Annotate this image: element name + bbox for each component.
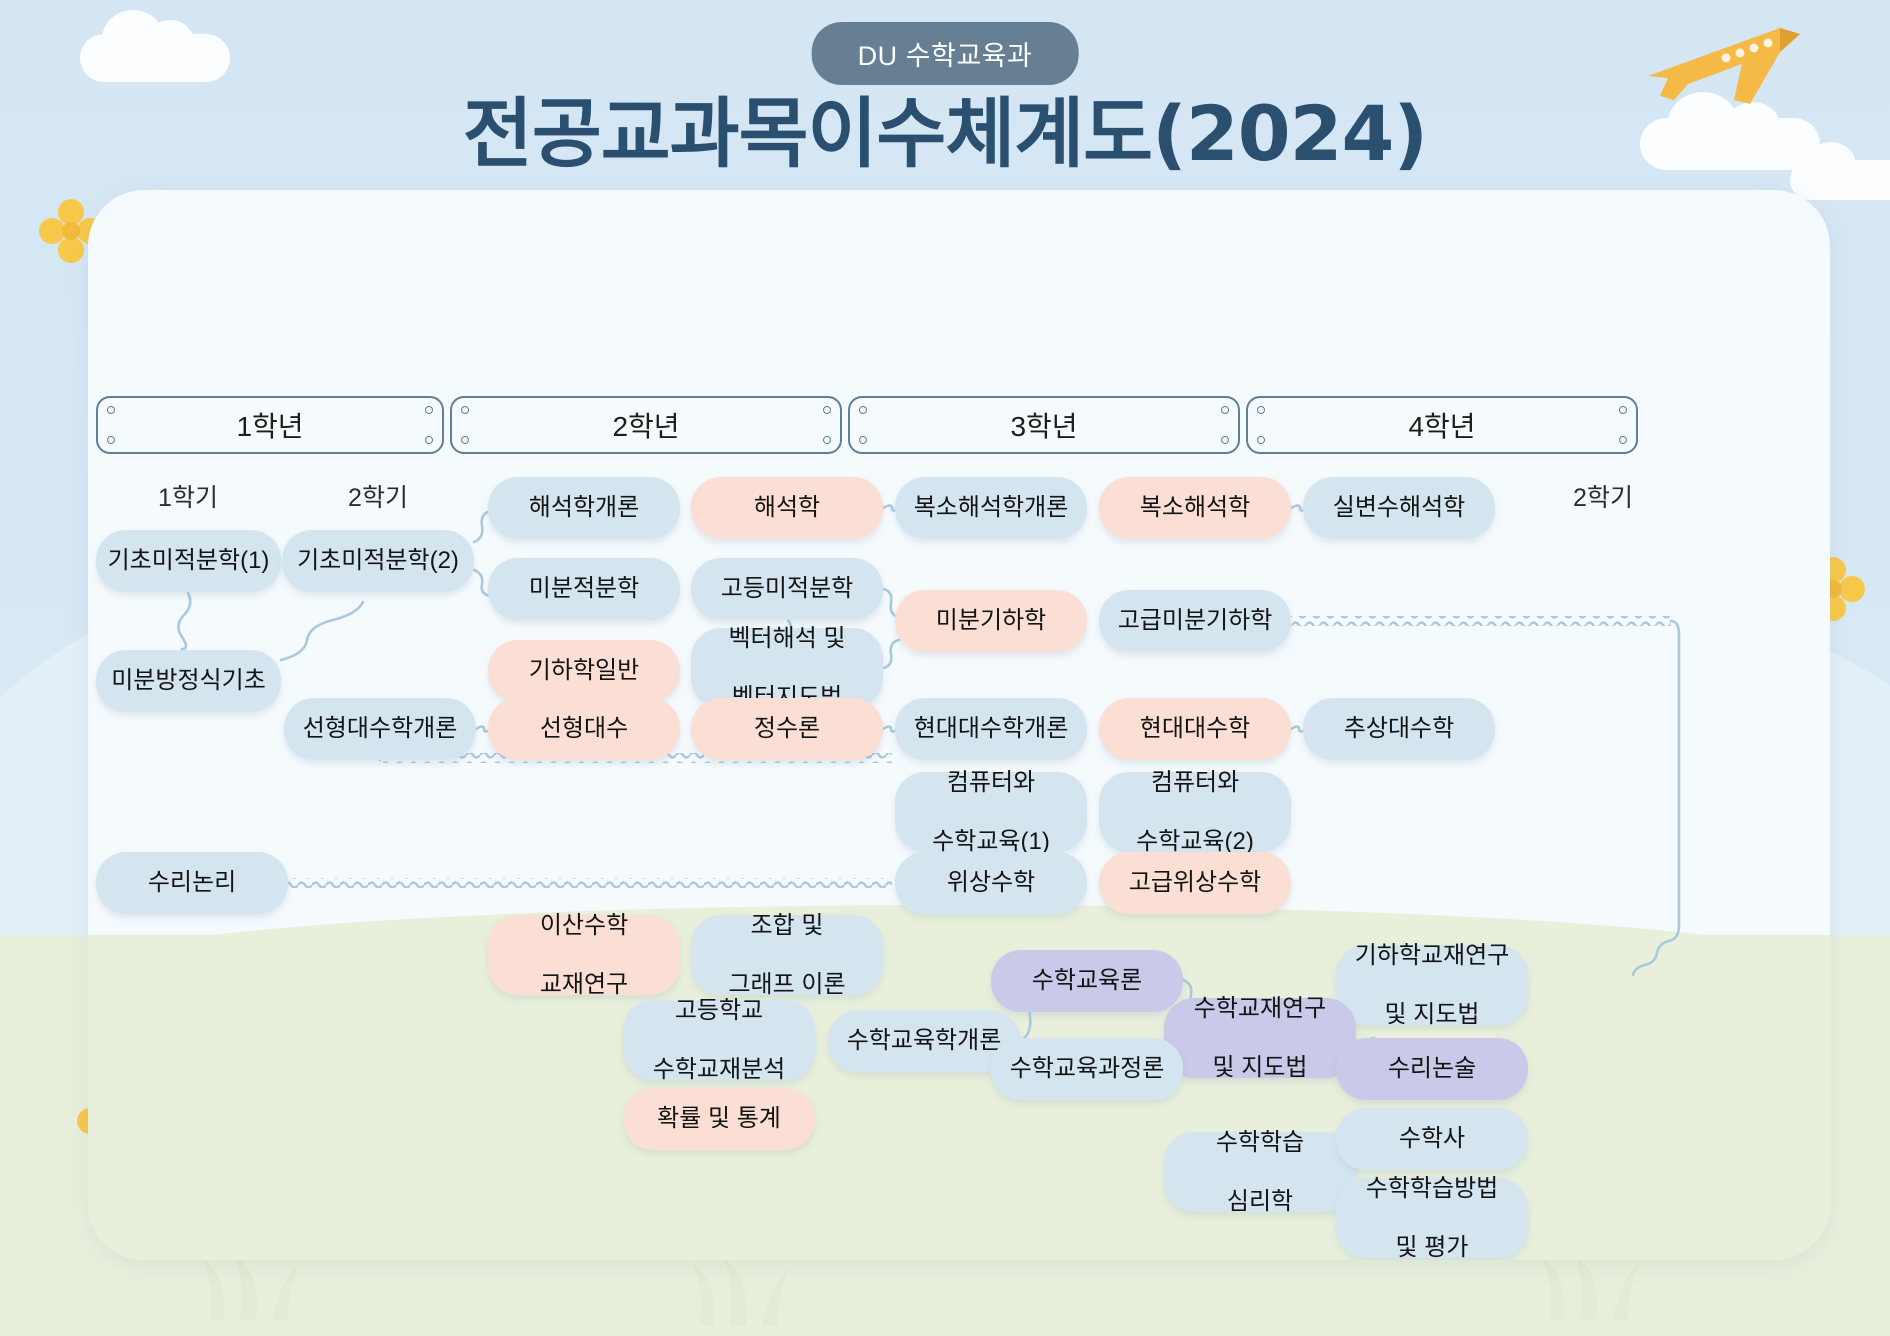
course-node[interactable]: 기초미적분학(1) [96, 530, 281, 592]
course-node-label: 고급위상수학 [1129, 868, 1261, 897]
year-label: 2학년 [612, 405, 679, 445]
course-node[interactable]: 조합 및그래프 이론 [691, 915, 883, 995]
year-box-2: 2학년 [450, 396, 842, 454]
course-node-label: 위상수학 [947, 868, 1035, 897]
course-node[interactable]: 현대대수학 [1099, 698, 1291, 760]
course-node-label: 수리논리 [148, 868, 236, 897]
course-node[interactable]: 고등미적분학 [691, 558, 883, 620]
course-node[interactable]: 이산수학교재연구 [488, 915, 680, 995]
course-node[interactable]: 선형대수 [488, 698, 680, 760]
course-node-label: 수학교재분석 [653, 1055, 785, 1084]
course-node-label: 기초미적분학(2) [297, 546, 459, 575]
airplane-icon [1630, 8, 1820, 118]
course-node[interactable]: 수학교육론 [991, 950, 1183, 1012]
course-node[interactable]: 컴퓨터와수학교육(1) [895, 772, 1087, 852]
course-node-label: 및 평가 [1396, 1233, 1469, 1260]
course-node-label: 정수론 [754, 714, 820, 743]
course-node-label: 고등미적분학 [721, 574, 853, 603]
course-node-label: 미분적분학 [529, 574, 639, 603]
semester-label-1-2: 2학기 [318, 478, 438, 514]
course-node[interactable]: 수학학습방법및 평가 [1336, 1178, 1528, 1258]
course-node-label: 수학교육론 [1032, 966, 1142, 995]
cloud-icon [1790, 160, 1890, 200]
course-node[interactable]: 미분적분학 [488, 558, 680, 620]
page-title: 전공교과목이수체계도(2024) [463, 72, 1427, 182]
course-node-label: 이산수학 [540, 911, 628, 940]
cloud-icon [80, 34, 230, 82]
course-node-label: 미분기하학 [936, 606, 1046, 635]
course-node-label: 컴퓨터와 [1151, 768, 1239, 797]
course-node-label: 수리논술 [1388, 1054, 1476, 1083]
course-node-label: 현대대수학 [1140, 714, 1250, 743]
course-node-label: 및 지도법 [1385, 1000, 1480, 1029]
course-node[interactable]: 정수론 [691, 698, 883, 760]
course-node[interactable]: 현대대수학개론 [895, 698, 1087, 760]
course-node[interactable]: 수리논술 [1336, 1038, 1528, 1100]
year-label: 1학년 [236, 405, 303, 445]
course-node-label: 수학사 [1399, 1124, 1465, 1153]
grass-decoration [690, 1255, 810, 1325]
course-node-label: 복소해석학개론 [914, 493, 1069, 522]
course-node-label: 복소해석학 [1140, 493, 1250, 522]
year-label: 3학년 [1010, 405, 1077, 445]
course-node-label: 선형대수학개론 [303, 714, 458, 743]
course-node-label: 수학교재연구 [1194, 994, 1326, 1023]
course-node-label: 및 지도법 [1213, 1053, 1308, 1082]
course-node[interactable]: 복소해석학 [1099, 477, 1291, 539]
course-node[interactable]: 수학사 [1336, 1108, 1528, 1170]
year-box-1: 1학년 [96, 396, 444, 454]
course-node-label: 수학교육과정론 [1010, 1054, 1165, 1083]
course-node-label: 선형대수 [540, 714, 628, 743]
course-node-label: 심리학 [1227, 1187, 1293, 1216]
course-node[interactable]: 기하학교재연구및 지도법 [1336, 945, 1528, 1025]
course-node-label: 수학교육학개론 [847, 1026, 1002, 1055]
course-node-label: 고등학교 [675, 996, 763, 1025]
course-node[interactable]: 추상대수학 [1303, 698, 1495, 760]
cloud-icon [1640, 118, 1820, 170]
course-node[interactable]: 위상수학 [895, 852, 1087, 914]
course-node-label: 기하학일반 [529, 656, 639, 685]
course-node[interactable]: 컴퓨터와수학교육(2) [1099, 772, 1291, 852]
year-box-3: 3학년 [848, 396, 1240, 454]
course-node-label: 해석학 [754, 493, 820, 522]
course-node[interactable]: 기초미적분학(2) [282, 530, 474, 592]
semester-label-4-2: 2학기 [1543, 478, 1663, 514]
course-node[interactable]: 수학교재연구및 지도법 [1164, 998, 1356, 1078]
course-node-label: 벡터해석 및 [728, 624, 845, 653]
course-node-label: 그래프 이론 [728, 970, 845, 999]
course-node-label: 교재연구 [540, 970, 628, 999]
card-grass-band [88, 935, 1830, 1260]
course-node[interactable]: 복소해석학개론 [895, 477, 1087, 539]
course-node[interactable]: 미분기하학 [895, 590, 1087, 652]
course-node[interactable]: 고급미분기하학 [1099, 590, 1291, 652]
course-node-label: 기하학교재연구 [1355, 941, 1510, 970]
grass-decoration [200, 1250, 320, 1320]
course-node-label: 고급미분기하학 [1118, 606, 1273, 635]
semester-label-1-1: 1학기 [128, 478, 248, 514]
course-node[interactable]: 수학학습심리학 [1164, 1132, 1356, 1212]
course-node-label: 조합 및 [751, 911, 824, 940]
course-node-label: 실변수해석학 [1333, 493, 1465, 522]
course-node[interactable]: 수학교육과정론 [991, 1038, 1183, 1100]
course-node-label: 현대대수학개론 [914, 714, 1069, 743]
course-node[interactable]: 확률 및 통계 [623, 1088, 815, 1150]
course-node[interactable]: 벡터해석 및벡터지도법 [691, 628, 883, 708]
year-box-4: 4학년 [1246, 396, 1638, 454]
course-node-label: 확률 및 통계 [657, 1104, 781, 1133]
curriculum-card: 1학년 2학년 3학년 4학년 1학기 2학기 1학기 2학기 1학기 2학기 … [88, 190, 1830, 1260]
course-node[interactable]: 미분방정식기초 [96, 650, 281, 712]
course-node[interactable]: 기하학일반 [488, 640, 680, 702]
course-node[interactable]: 실변수해석학 [1303, 477, 1495, 539]
course-node-label: 추상대수학 [1344, 714, 1454, 743]
year-label: 4학년 [1408, 405, 1475, 445]
course-node[interactable]: 고급위상수학 [1099, 852, 1291, 914]
course-node-label: 수학학습 [1216, 1128, 1304, 1157]
course-node[interactable]: 해석학 [691, 477, 883, 539]
course-node[interactable]: 수리논리 [96, 852, 288, 914]
course-node[interactable]: 선형대수학개론 [284, 698, 476, 760]
course-node-label: 기초미적분학(1) [108, 546, 270, 575]
course-node-label: 수학학습방법 [1366, 1174, 1498, 1203]
course-node[interactable]: 고등학교수학교재분석 [623, 1000, 815, 1080]
course-node-label: 컴퓨터와 [947, 768, 1035, 797]
course-node[interactable]: 해석학개론 [488, 477, 680, 539]
course-node-label: 해석학개론 [529, 493, 639, 522]
grass-decoration [1540, 1250, 1660, 1320]
course-node-label: 미분방정식기초 [111, 666, 266, 695]
